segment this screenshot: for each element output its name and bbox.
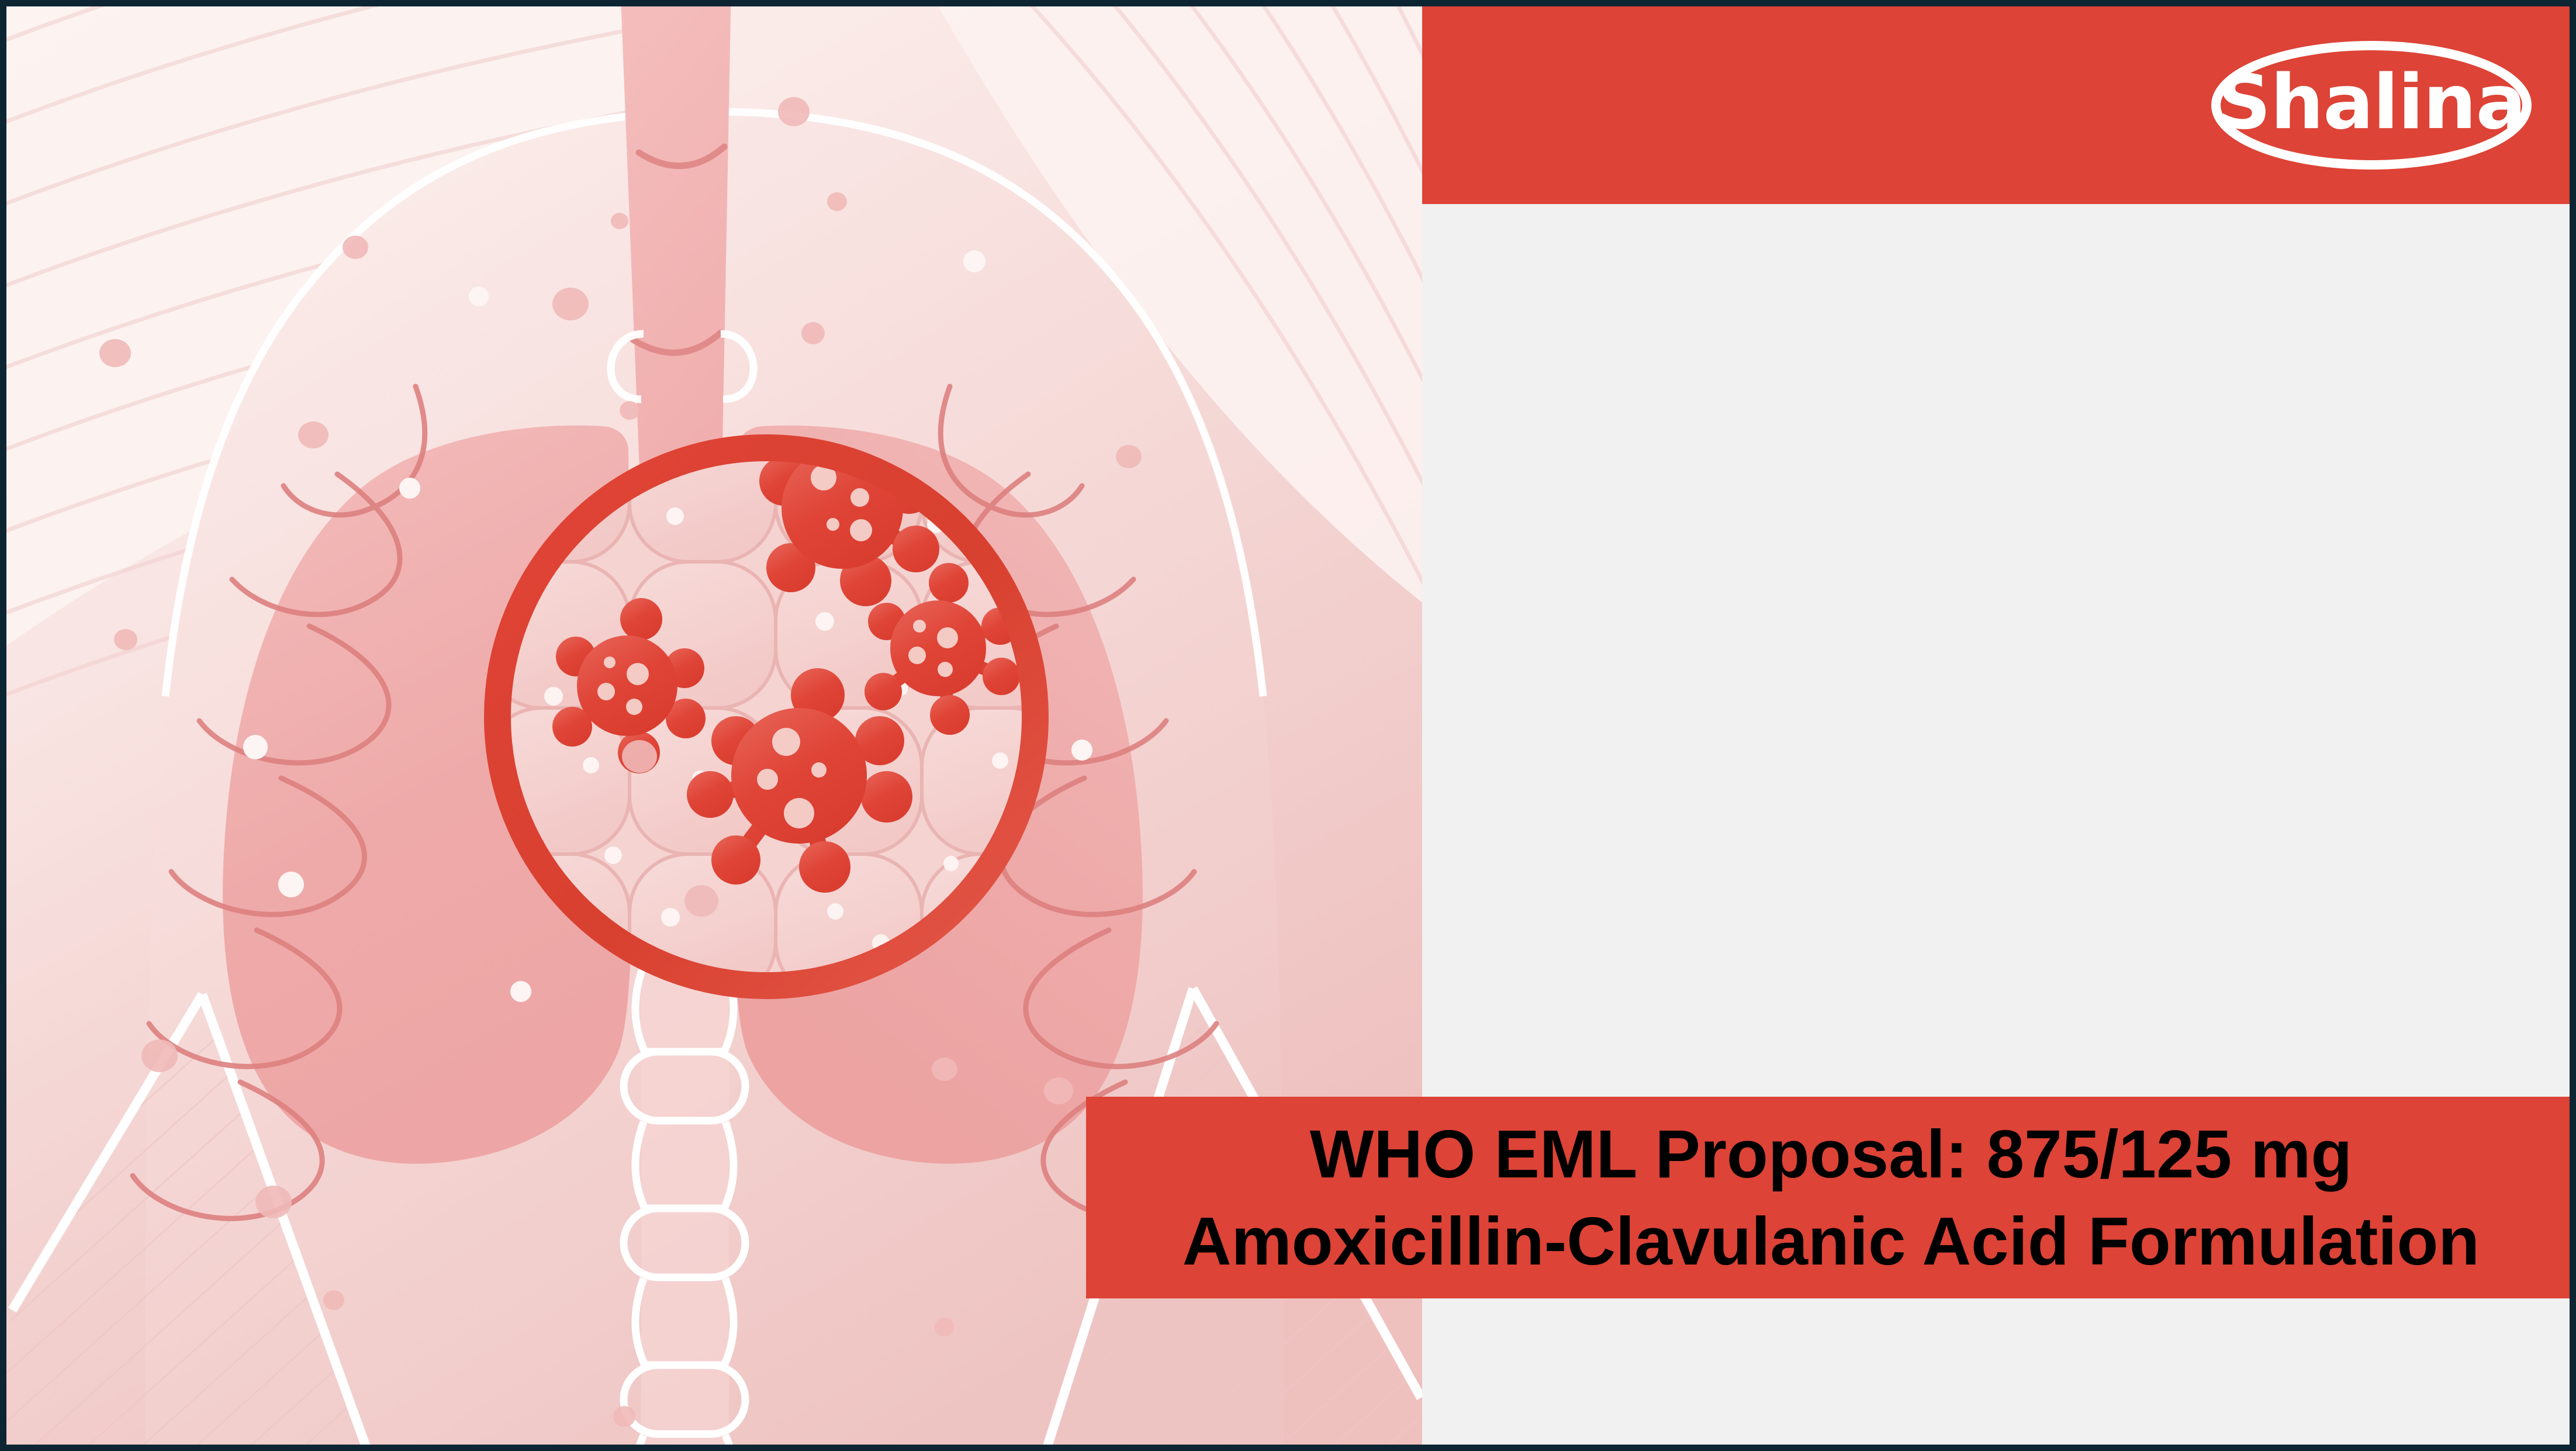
title-line-1: WHO EML Proposal: 875/125 mg [1310,1111,2352,1197]
slide-root: Shalina WHO EML Proposal: 875/125 mg Amo… [0,0,2576,1451]
header-bar: Shalina [1422,6,2576,204]
logo-wordmark: Shalina [2217,65,2526,145]
title-banner: WHO EML Proposal: 875/125 mg Amoxicillin… [1086,1097,2576,1298]
title-line-2: Amoxicillin-Clavulanic Acid Formulation [1182,1198,2480,1284]
shalina-logo: Shalina [2208,38,2535,172]
